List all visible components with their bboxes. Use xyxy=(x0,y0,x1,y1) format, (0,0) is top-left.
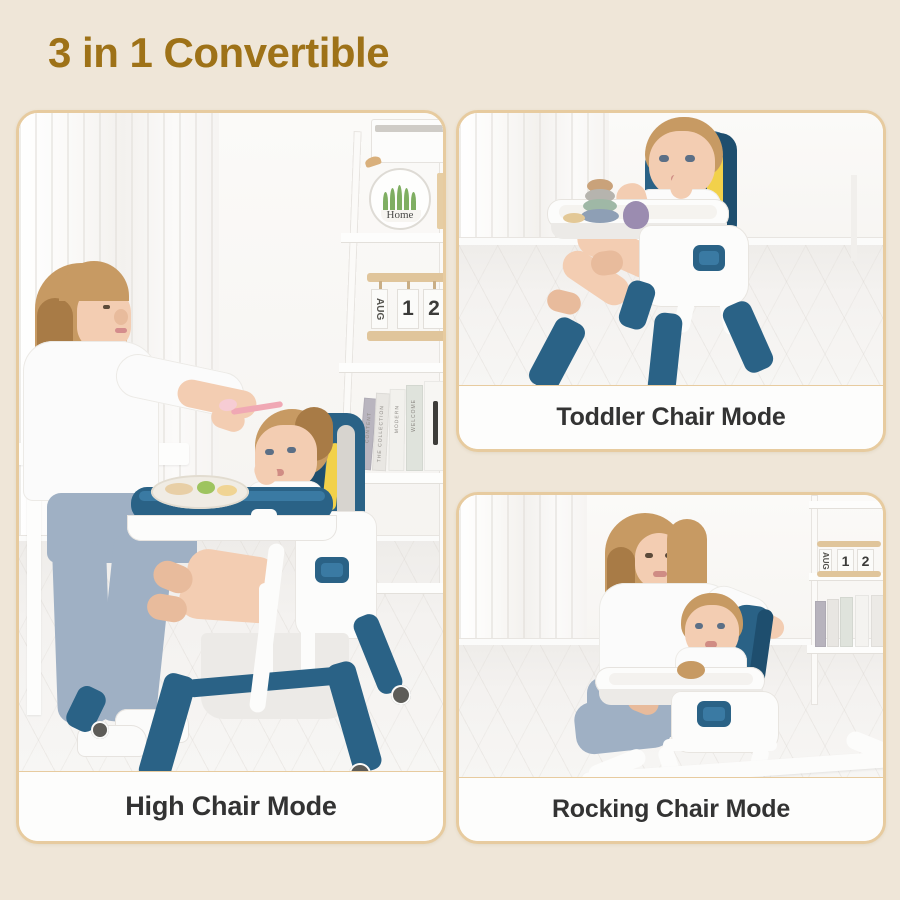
photo-toddler-chair xyxy=(459,113,883,391)
card-rocking-chair[interactable]: AUG 1 2 xyxy=(456,492,886,844)
page-title: 3 in 1 Convertible xyxy=(48,30,389,76)
purple-toy xyxy=(623,201,649,229)
photo-rocking-chair: AUG 1 2 xyxy=(459,495,883,783)
calendar-day-2: 2 xyxy=(423,289,443,329)
infographic-page: 3 in 1 Convertible xyxy=(0,0,900,900)
calendar-day-1: 1 xyxy=(397,289,419,329)
caption-rocking-chair: Rocking Chair Mode xyxy=(459,777,883,841)
caption-toddler-chair: Toddler Chair Mode xyxy=(459,385,883,449)
calendar-day-2: 2 xyxy=(857,549,874,573)
home-sign: Home xyxy=(369,168,431,230)
calendar-month: AUG xyxy=(371,289,388,329)
caption-high-chair: High Chair Mode xyxy=(19,771,443,841)
calendar-month: AUG xyxy=(819,549,832,573)
card-high-chair[interactable]: Home AUG 1 2 xyxy=(16,110,446,844)
card-toddler-chair[interactable]: Toddler Chair Mode xyxy=(456,110,886,452)
calendar-day-1: 1 xyxy=(837,549,854,573)
photo-high-chair: Home AUG 1 2 xyxy=(19,113,443,777)
home-sign-label: Home xyxy=(371,209,429,221)
